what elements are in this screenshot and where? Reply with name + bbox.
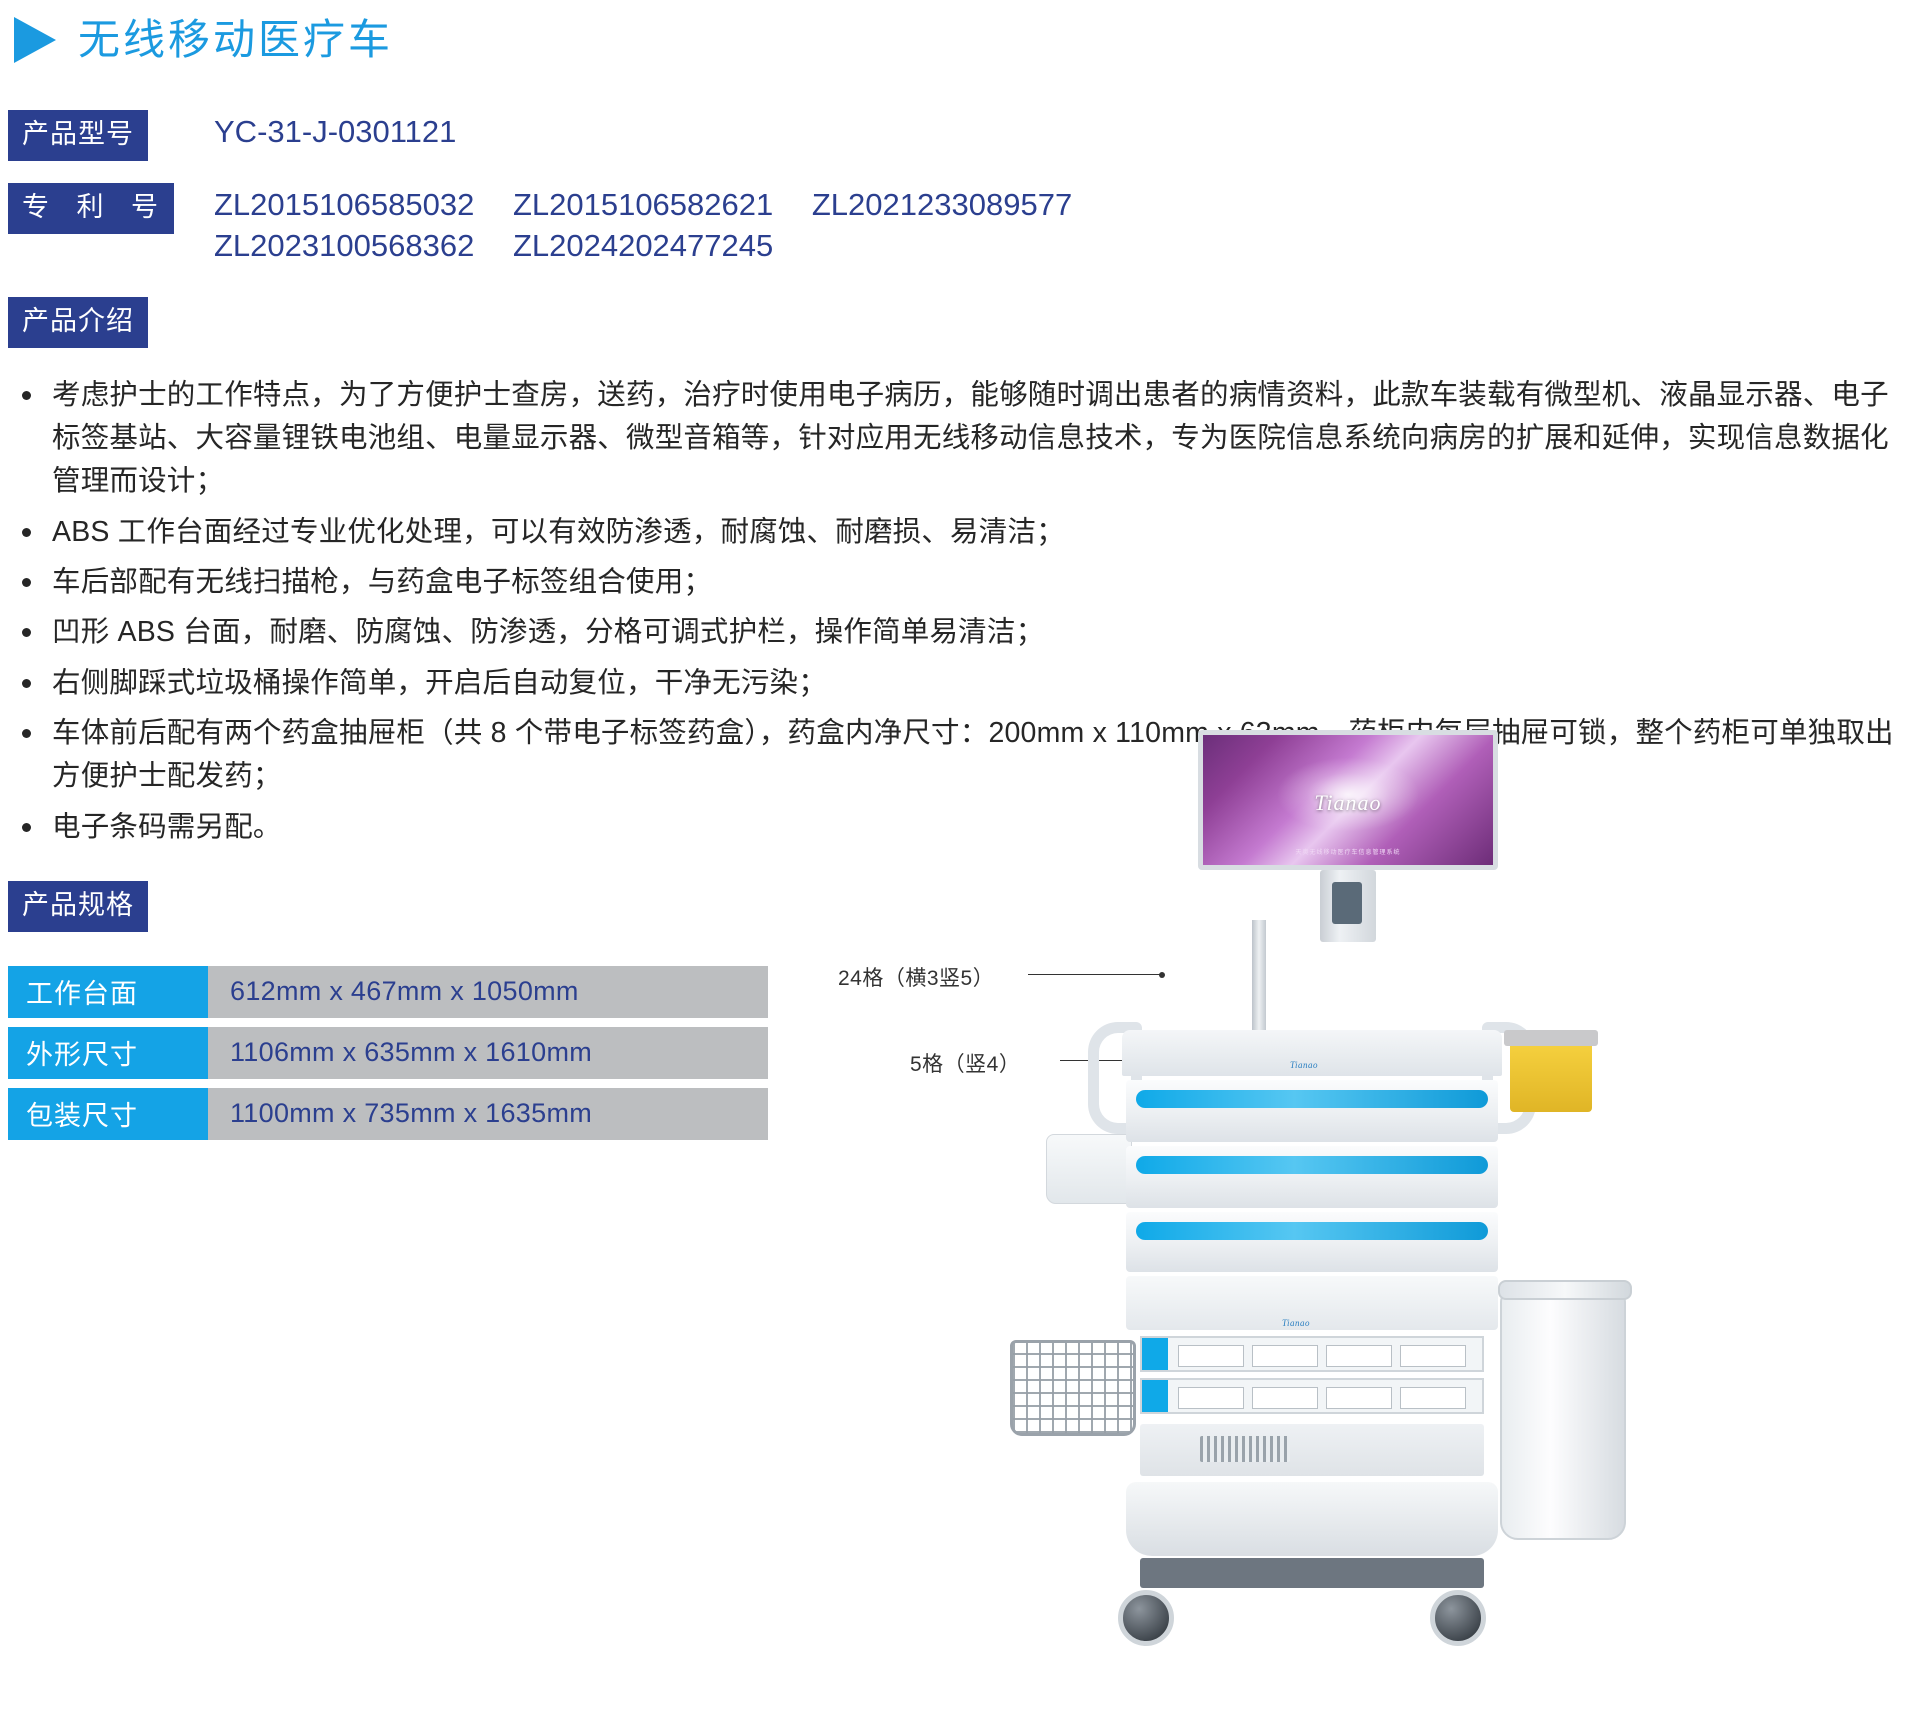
product-model-label-wrap: 产品型号 (8, 110, 178, 161)
drawer-handle (1136, 1090, 1488, 1108)
patent-number: ZL2015106585032 (214, 187, 474, 222)
spec-row-label: 外形尺寸 (8, 1027, 208, 1079)
list-item: 右侧脚踩式垃圾桶操作简单，开启后自动复位，干净无污染； (14, 662, 1905, 705)
brand-mark: Tianao (1282, 1318, 1310, 1328)
patent-number: ZL2023100568362 (214, 228, 474, 263)
patent-line: ZL2023100568362 ZL2024202477245 (214, 226, 1102, 267)
patent-number: ZL2021233089577 (812, 187, 1072, 222)
product-image-area: 24格（横3竖5） 5格（竖4） Tianao 天奥无线移动医疗车信息管理系统 … (830, 840, 1910, 1700)
side-storage-box (1046, 1134, 1132, 1204)
drawer (1126, 1080, 1498, 1142)
medicine-bin (1326, 1387, 1392, 1409)
list-item: 车后部配有无线扫描枪，与药盒电子标签组合使用； (14, 561, 1905, 604)
product-model-label: 产品型号 (8, 110, 148, 161)
list-item: 考虑护士的工作特点，为了方便护士查房，送药，治疗时使用电子病历，能够随时调出患者… (14, 374, 1905, 504)
spec-row-label: 包装尺寸 (8, 1088, 208, 1140)
table-row: 包装尺寸 1100mm x 735mm x 1635mm (8, 1088, 768, 1140)
sharps-container-lid (1504, 1030, 1598, 1046)
product-model-value: YC-31-J-0301121 (214, 110, 456, 153)
medical-cart-illustration: Tianao 天奥无线移动医疗车信息管理系统 Tianao Tianao (990, 730, 1630, 1690)
drawer-handle (1136, 1156, 1488, 1174)
patent-number-label: 专 利 号 (8, 183, 174, 234)
table-row: 工作台面 612mm x 467mm x 1050mm (8, 966, 768, 1018)
support-pole (1252, 920, 1266, 1040)
vent-grille-icon (1200, 1436, 1290, 1462)
patent-number: ZL2024202477245 (513, 228, 773, 263)
patent-number-values: ZL2015106585032 ZL2015106582621 ZL202123… (214, 183, 1102, 267)
drawer (1126, 1276, 1498, 1330)
spec-row-value: 612mm x 467mm x 1050mm (208, 966, 768, 1018)
waste-bin-lid (1498, 1280, 1632, 1300)
medicine-bin (1178, 1345, 1244, 1367)
caster-wheel (1430, 1590, 1486, 1646)
drawer (1126, 1212, 1498, 1272)
page-header: 无线移动医疗车 (0, 0, 1920, 66)
lower-basin (1126, 1482, 1498, 1556)
product-intro-heading-wrap: 产品介绍 (8, 297, 1920, 348)
list-item: ABS 工作台面经过专业优化处理，可以有效防渗透，耐腐蚀、耐磨损、易清洁； (14, 511, 1905, 554)
spec-row-value: 1100mm x 735mm x 1635mm (208, 1088, 768, 1140)
patent-number: ZL2015106582621 (513, 187, 773, 222)
product-spec-heading: 产品规格 (8, 881, 148, 932)
monitor-logo-text: Tianao (1203, 790, 1493, 816)
cart-base-bar (1140, 1558, 1484, 1588)
medicine-bin (1400, 1345, 1466, 1367)
monitor-mount (1320, 870, 1376, 942)
drawer-handle (1136, 1222, 1488, 1240)
control-panel-icon (1332, 882, 1362, 924)
product-intro-heading: 产品介绍 (8, 297, 148, 348)
sharps-container (1510, 1042, 1592, 1112)
medicine-bin (1400, 1387, 1466, 1409)
patent-line: ZL2015106585032 ZL2015106582621 ZL202123… (214, 185, 1102, 226)
play-triangle-icon (14, 17, 56, 63)
product-model-row: 产品型号 YC-31-J-0301121 (8, 110, 1920, 161)
caster-wheel (1118, 1590, 1174, 1646)
list-item: 凹形 ABS 台面，耐磨、防腐蚀、防渗透，分格可调式护栏，操作简单易清洁； (14, 611, 1905, 654)
callout-label: 24格（横3竖5） (838, 962, 994, 992)
medicine-bin (1178, 1387, 1244, 1409)
drawer (1126, 1146, 1498, 1208)
wire-basket (1010, 1340, 1136, 1436)
medicine-bin (1252, 1387, 1318, 1409)
tray-accent (1142, 1338, 1168, 1370)
spec-row-label: 工作台面 (8, 966, 208, 1018)
battery-compartment (1140, 1424, 1484, 1476)
monitor-screen: Tianao 天奥无线移动医疗车信息管理系统 (1198, 730, 1498, 870)
product-spec-table: 工作台面 612mm x 467mm x 1050mm 外形尺寸 1106mm … (8, 966, 768, 1140)
spec-row-value: 1106mm x 635mm x 1610mm (208, 1027, 768, 1079)
patent-number-row: 专 利 号 ZL2015106585032 ZL2015106582621 ZL… (8, 183, 1920, 267)
brand-mark: Tianao (1290, 1060, 1318, 1070)
waste-bin (1500, 1290, 1626, 1540)
monitor-subtitle-text: 天奥无线移动医疗车信息管理系统 (1203, 847, 1493, 856)
tray-accent (1142, 1380, 1168, 1412)
medicine-bin (1252, 1345, 1318, 1367)
table-row: 外形尺寸 1106mm x 635mm x 1610mm (8, 1027, 768, 1079)
page-title: 无线移动医疗车 (78, 19, 393, 61)
medicine-bin (1326, 1345, 1392, 1367)
patent-number-label-wrap: 专 利 号 (8, 183, 178, 234)
medicine-bin-tray (1140, 1336, 1484, 1372)
medicine-bin-tray (1140, 1378, 1484, 1414)
